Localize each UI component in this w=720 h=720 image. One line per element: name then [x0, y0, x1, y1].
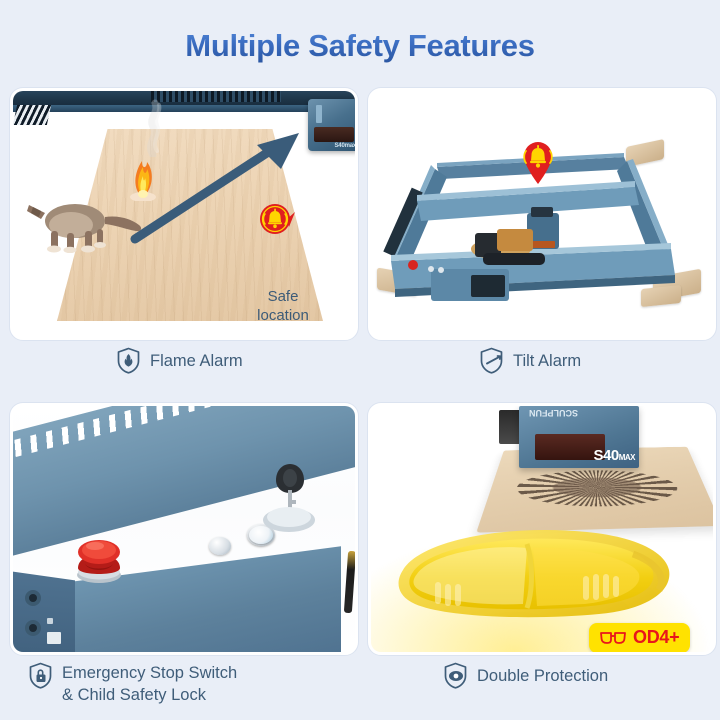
caption-label: Tilt Alarm	[513, 350, 581, 372]
feature-card-flame-alarm[interactable]: S40max	[10, 88, 358, 340]
caption-label: Double Protection	[477, 665, 608, 687]
caption-double-protection: Double Protection	[443, 662, 608, 689]
emergency-stop-button[interactable]	[71, 530, 127, 584]
key-lock-collar	[259, 502, 319, 536]
page-title: Multiple Safety Features	[0, 28, 720, 64]
laser-head-model-label: S40max	[335, 143, 356, 149]
caption-flame-alarm: Flame Alarm	[116, 347, 243, 374]
caption-tilt-alarm: Tilt Alarm	[479, 347, 581, 374]
caption-label: Emergency Stop Switch & Child Safety Loc…	[62, 662, 237, 706]
module-mount	[499, 410, 521, 444]
shield-eye-icon	[443, 662, 468, 689]
glasses-icon	[600, 631, 626, 644]
safety-goggles	[387, 518, 677, 628]
laser-module: SCULPFUN S40MAX	[519, 406, 639, 468]
safety-features-page: Multiple Safety Features S40max	[0, 0, 720, 720]
module-model-main: S40	[594, 447, 619, 464]
laser-head-stripe	[316, 105, 322, 123]
feature-card-tilt-alarm[interactable]	[368, 88, 716, 340]
caption-label: Flame Alarm	[150, 350, 243, 372]
od4-badge: OD4+	[589, 623, 690, 652]
module-model-label: S40MAX	[594, 447, 635, 464]
double-protection-scene: SCULPFUN S40MAX	[371, 406, 713, 652]
laser-head-window	[314, 127, 354, 142]
caption-emergency-stop: Emergency Stop Switch & Child Safety Loc…	[28, 662, 237, 706]
flame-alarm-scene: S40max	[13, 91, 355, 337]
feature-card-emergency-stop[interactable]	[10, 403, 358, 655]
alarm-bell-pin	[519, 138, 557, 184]
shield-tilt-icon	[479, 347, 504, 374]
feature-card-double-protection[interactable]: SCULPFUN S40MAX	[368, 403, 716, 655]
power-button[interactable]	[209, 537, 231, 555]
tilt-alarm-scene	[371, 91, 713, 337]
io-ports-panel	[19, 582, 65, 652]
shield-flame-icon	[116, 347, 141, 374]
gantry-rail	[13, 105, 355, 112]
safe-location-label: Safe location	[231, 287, 335, 325]
module-model-sub: MAX	[619, 453, 635, 462]
od4-badge-text: OD4+	[633, 627, 679, 648]
alarm-bell-badge	[259, 203, 296, 237]
shield-lock-icon	[28, 662, 53, 689]
module-brand-label: SCULPFUN	[529, 408, 578, 418]
gantry-foot-left	[13, 105, 51, 125]
emergency-stop-scene	[13, 406, 355, 652]
